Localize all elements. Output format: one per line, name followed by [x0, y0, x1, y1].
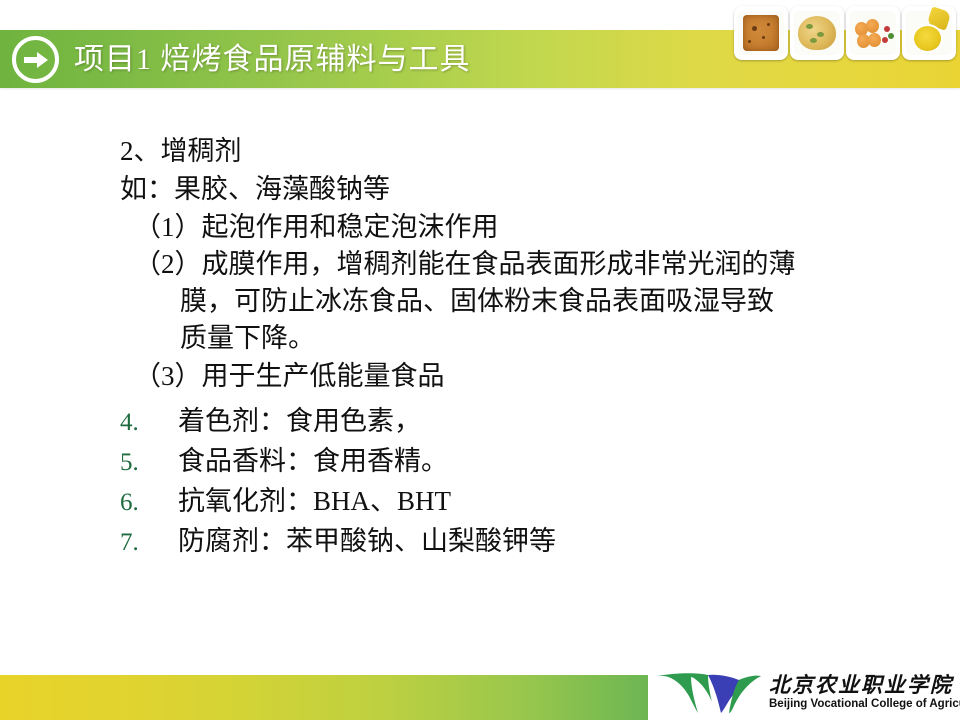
footer-band [0, 675, 648, 720]
slide-root: 项目1 焙烤食品原辅料与工具 [0, 0, 960, 720]
list-item-label: 着色剂：食用色素， [178, 399, 421, 438]
w-logo-icon [655, 670, 763, 714]
point-2-continuation-2: 质量下降。 [134, 320, 910, 357]
list-item-marker: 6. [120, 489, 178, 517]
list-item-marker: 7. [120, 529, 178, 557]
page-title: 项目1 焙烤食品原辅料与工具 [74, 36, 471, 83]
content-point-1: （1）起泡作用和稳定泡沫作用 [120, 208, 920, 246]
numbered-list: 4. 着色剂：食用色素， 5. 食品香料：食用香精。 6. 抗氧化剂：BHA、B… [120, 399, 920, 559]
logo-name-en: Beijing Vocational College of Agricultur… [769, 697, 960, 711]
list-item: 4. 着色剂：食用色素， [120, 399, 920, 439]
content-point-3: （3）用于生产低能量食品 [120, 357, 920, 395]
point-2-text: 成膜作用，增稠剂能在食品表面形成非常光润的薄 [202, 249, 796, 279]
circled-right-arrow-icon [12, 36, 59, 83]
institution-logo: 北京农业职业学院 Beijing Vocational College of A… [655, 668, 955, 716]
point-2-continuation-1: 膜，可防止冰冻食品、固体粉末食品表面吸湿导致 [134, 283, 910, 320]
content-heading: 2、增稠剂 [120, 132, 920, 170]
list-item-marker: 4. [120, 409, 178, 437]
logo-name-cn: 北京农业职业学院 [769, 673, 960, 697]
slide-content: 2、增稠剂 如：果胶、海藻酸钠等 （1）起泡作用和稳定泡沫作用 （2）成膜作用，… [120, 132, 920, 559]
sauce-bowl-thumbnail [902, 6, 956, 60]
nuggets-thumbnail [846, 6, 900, 60]
list-item: 7. 防腐剂：苯甲酸钠、山梨酸钾等 [120, 519, 920, 559]
content-point-2: （2）成膜作用，增稠剂能在食品表面形成非常光润的薄膜，可防止冰冻食品、固体粉末食… [120, 246, 910, 357]
header-thumbnail-strip [734, 6, 956, 60]
point-1-text: 起泡作用和稳定泡沫作用 [202, 212, 499, 242]
pastry-thumbnail [790, 6, 844, 60]
list-item-label: 防腐剂：苯甲酸钠、山梨酸钾等 [178, 519, 556, 558]
point-3-label: （3） [134, 361, 202, 391]
list-item: 6. 抗氧化剂：BHA、BHT [120, 479, 920, 519]
list-item-marker: 5. [120, 449, 178, 477]
list-item-label: 食品香料：食用香精。 [178, 439, 448, 478]
toast-thumbnail [734, 6, 788, 60]
point-3-text: 用于生产低能量食品 [202, 361, 445, 391]
point-2-label: （2） [134, 249, 202, 279]
point-1-label: （1） [134, 212, 202, 242]
list-item: 5. 食品香料：食用香精。 [120, 439, 920, 479]
content-example-line: 如：果胶、海藻酸钠等 [120, 170, 920, 208]
list-item-label: 抗氧化剂：BHA、BHT [178, 479, 451, 518]
